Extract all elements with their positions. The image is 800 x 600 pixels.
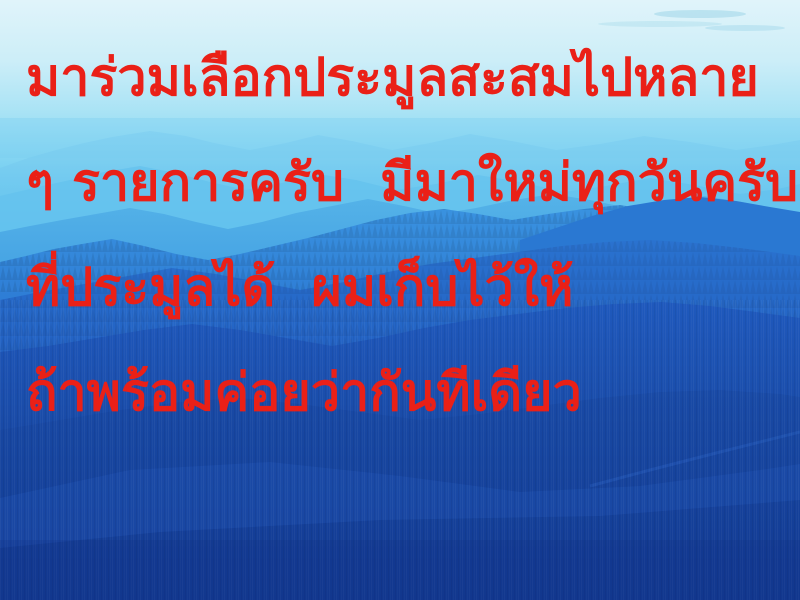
overlay-text-line-4: ถ้าพร้อมค่อยว่ากันทีเดียว	[26, 367, 582, 419]
overlay-text-line-2: ๆ รายการครับ มีมาใหม่ทุกวันครับ	[26, 157, 798, 209]
overlay-text-line-3: ที่ประมูลได้ ผมเก็บไว้ให้	[26, 262, 573, 314]
thai-text-overlay: มาร่วมเลือกประมูลสะสมไปหลาย ๆ รายการครับ…	[0, 0, 800, 600]
overlay-text-line-1: มาร่วมเลือกประมูลสะสมไปหลาย	[26, 52, 759, 104]
banner-image: มาร่วมเลือกประมูลสะสมไปหลาย ๆ รายการครับ…	[0, 0, 800, 600]
